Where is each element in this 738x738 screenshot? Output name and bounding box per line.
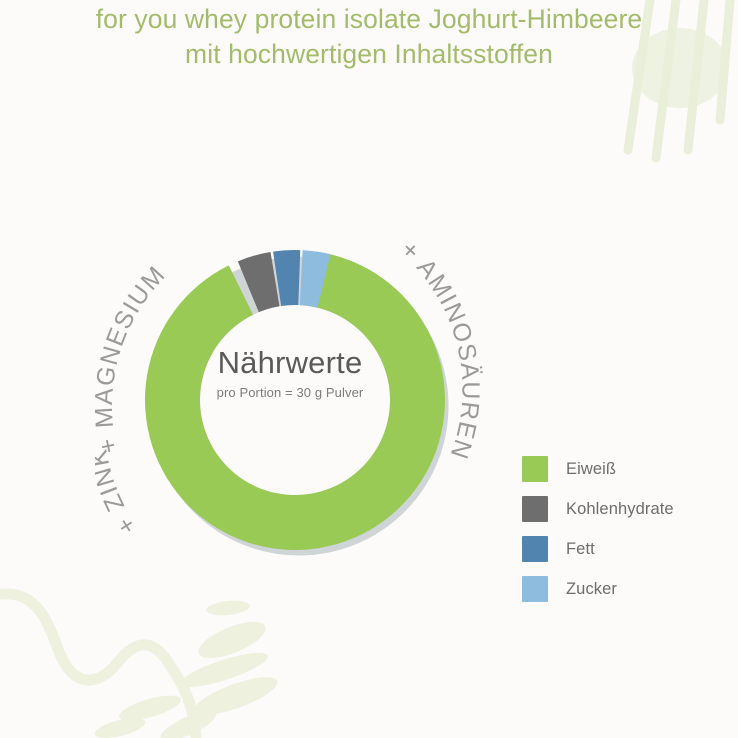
legend-item-kohlenhydrate: Kohlenhydrate (522, 489, 674, 529)
legend-item-eiweiß: Eiweiß (522, 449, 674, 489)
donut-center-plate (200, 305, 390, 495)
legend-swatch (522, 576, 548, 602)
legend-item-zucker: Zucker (522, 569, 674, 609)
arc-label-zink-text: + ZINK (95, 446, 142, 539)
legend-label: Eiweiß (566, 460, 616, 479)
legend-swatch (522, 456, 548, 482)
legend-label: Zucker (566, 580, 617, 599)
legend-item-fett: Fett (522, 529, 674, 569)
header-text-block: for you whey protein isolate Joghurt-Him… (0, 0, 738, 72)
nutrition-donut-chart: + MAGNESIUM + AMINOSÄUREN + ZINK Nährwer… (0, 150, 738, 610)
legend-swatch (522, 496, 548, 522)
infographic-canvas: for you whey protein isolate Joghurt-Him… (0, 0, 738, 738)
arc-label-zink: + ZINK (95, 446, 142, 539)
legend-label: Fett (566, 540, 595, 559)
donut-svg: + MAGNESIUM + AMINOSÄUREN + ZINK (95, 200, 495, 600)
chart-legend: EiweißKohlenhydrateFettZucker (522, 449, 674, 609)
header-line-1: for you whey protein isolate Joghurt-Him… (0, 2, 738, 37)
header-line-2: mit hochwertigen Inhaltsstoffen (0, 37, 738, 72)
legend-swatch (522, 536, 548, 562)
legend-label: Kohlenhydrate (566, 500, 674, 519)
